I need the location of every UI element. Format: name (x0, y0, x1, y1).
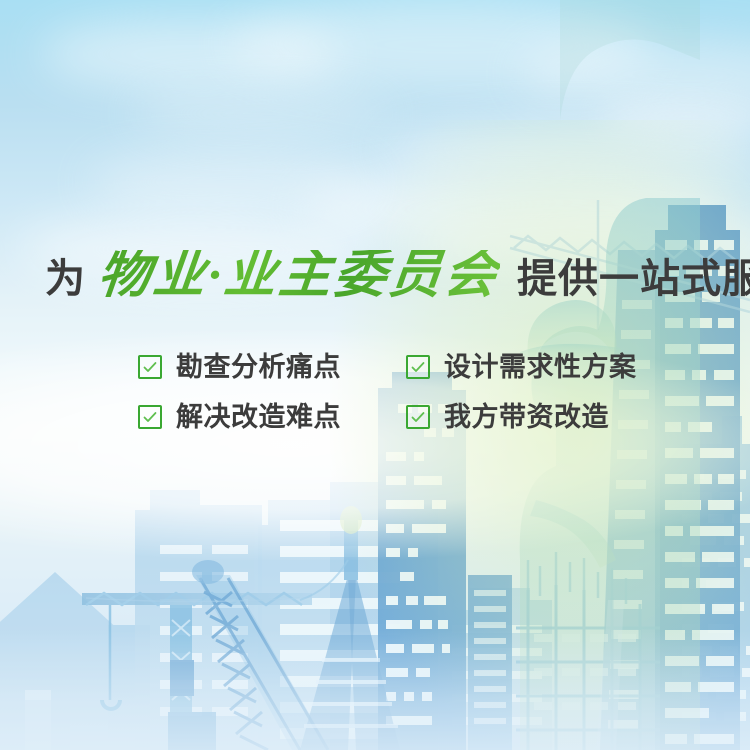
checkbox-checked-icon (138, 405, 162, 429)
promo-banner: 为 物业·业主委员会 提供一站式服务 勘查分析痛点 设计需求性方案 (0, 0, 750, 750)
headline-suffix: 提供一站式服务 (517, 259, 750, 299)
feature-item-design-proposal: 设计需求性方案 (406, 354, 674, 381)
checkbox-checked-icon (138, 355, 162, 379)
headline-highlight: 物业·业主委员会 (95, 250, 501, 302)
headline-prefix: 为 (45, 259, 86, 299)
checkbox-checked-icon (406, 355, 430, 379)
headline: 为 物业·业主委员会 提供一站式服务 (45, 250, 750, 302)
feature-label: 设计需求性方案 (444, 354, 637, 381)
feature-item-we-fund-renovation: 我方带资改造 (406, 404, 674, 431)
feature-list: 勘查分析痛点 设计需求性方案 解决改造难点 (138, 342, 674, 442)
checkbox-checked-icon (406, 405, 430, 429)
feature-item-solve-difficulties: 解决改造难点 (138, 404, 406, 431)
feature-label: 勘查分析痛点 (176, 354, 341, 381)
feature-label: 解决改造难点 (176, 404, 341, 431)
feature-label: 我方带资改造 (444, 404, 609, 431)
feature-item-survey-pain-points: 勘查分析痛点 (138, 354, 406, 381)
